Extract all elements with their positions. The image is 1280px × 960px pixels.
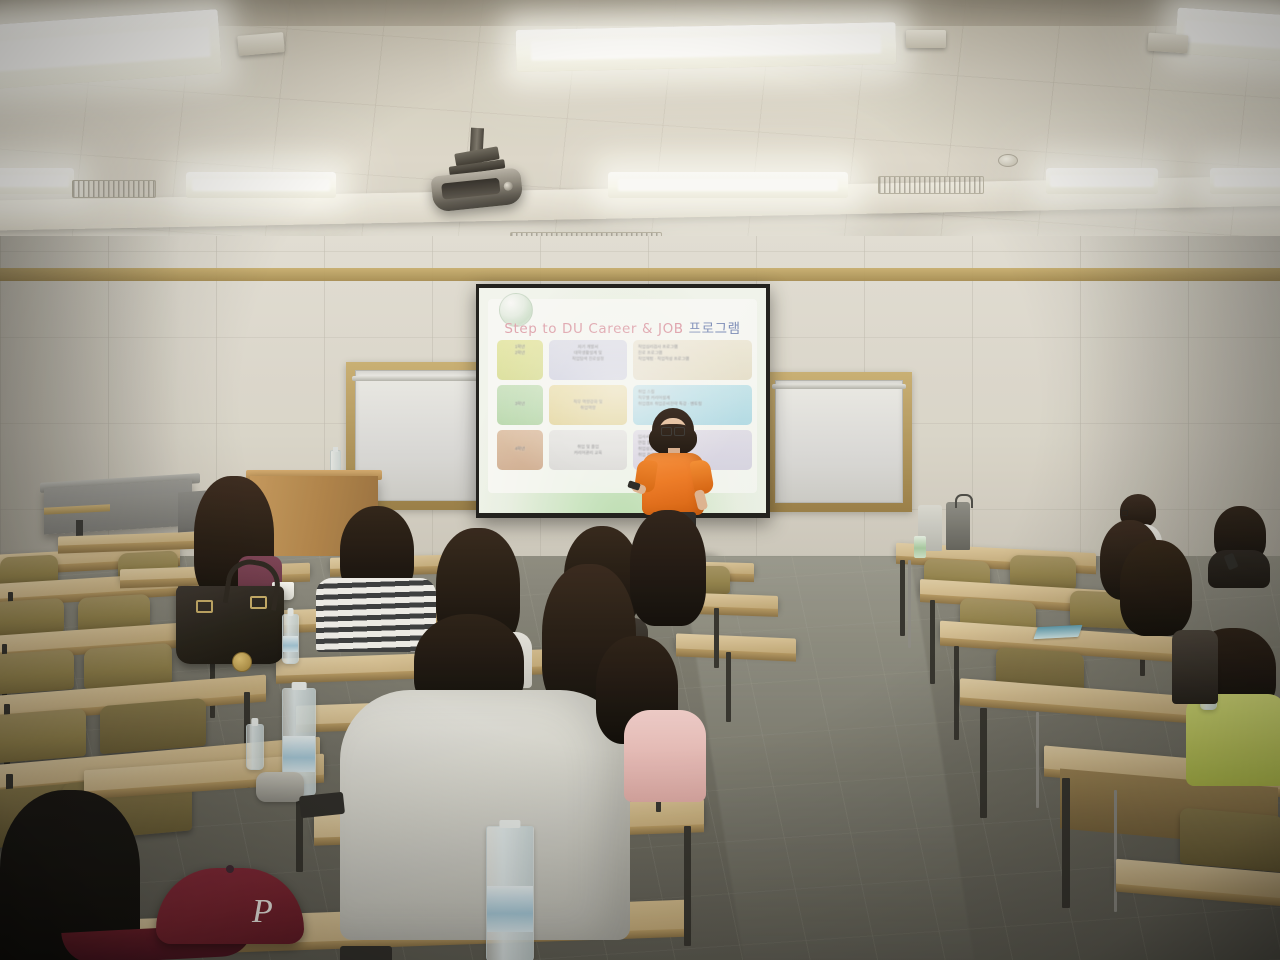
- projector-lens: [441, 178, 500, 200]
- chair: [0, 649, 74, 695]
- student-torso: [340, 690, 630, 940]
- student-torso: [1172, 630, 1218, 704]
- student: [1172, 630, 1218, 704]
- light-fixture-head: [237, 32, 285, 56]
- slide-year-label: 3학년: [497, 385, 543, 425]
- ceiling-light: [516, 22, 897, 72]
- chair: [100, 698, 206, 754]
- student-torso: [1208, 550, 1270, 588]
- air-vent: [72, 180, 156, 198]
- cap-button: [226, 865, 234, 873]
- whiteboard-surface: [775, 380, 903, 503]
- whiteboard-right: [766, 372, 912, 512]
- slide-title-korean: 프로그램: [689, 321, 741, 337]
- bag-buckle: [196, 600, 213, 613]
- desk-leg: [726, 652, 731, 722]
- water-bottle: [246, 724, 264, 770]
- desk-leg: [908, 560, 911, 648]
- desk-leg: [900, 560, 905, 636]
- foil-pouch: [256, 772, 304, 802]
- chair-leg: [1036, 712, 1039, 808]
- projection-screen: Step to DU Career & JOB 프로그램 1학년2학년 자기 개…: [476, 284, 770, 518]
- slide-middle-cell: 직무 역량강화 및취업역량: [549, 385, 627, 425]
- slide-content-cell: 직업심리검사 프로그램진로 프로그램직업체험 · 직업적성 프로그램: [633, 340, 752, 380]
- slide-row: 3학년 직무 역량강화 및취업역량 취업 스킬직무별 커리어설계취업캠프 취업준…: [497, 385, 752, 425]
- desk-leg: [714, 608, 719, 668]
- ceiling-light: [0, 168, 74, 194]
- desk-leg: [930, 600, 935, 684]
- student-torso: [624, 710, 706, 802]
- chair: [1180, 807, 1280, 872]
- bag-charm: [232, 652, 252, 672]
- bag-buckle: [250, 596, 267, 609]
- desk-leg: [1062, 778, 1070, 908]
- slide-title: Step to DU Career & JOB 프로그램: [479, 317, 766, 337]
- bag: [946, 502, 970, 550]
- slide-year-label: 4학년: [497, 430, 543, 470]
- student: [596, 636, 706, 796]
- drink-can: [914, 536, 926, 558]
- whiteboard-marker-rail: [772, 384, 906, 389]
- glasses-icon: [1121, 510, 1128, 516]
- light-fixture-head: [906, 30, 946, 48]
- glasses-icon: [661, 427, 685, 434]
- slide-title-english: Step to DU Career & JOB: [504, 321, 688, 337]
- slide-middle-cell: 자기 개발서대학생활설계 및직업탐색 진로설정: [549, 340, 627, 380]
- smoke-detector: [998, 154, 1018, 167]
- slide-row: 1학년2학년 자기 개발서대학생활설계 및직업탐색 진로설정 직업심리검사 프로…: [497, 340, 752, 380]
- cap-logo: P: [252, 894, 278, 930]
- student: [1208, 506, 1270, 584]
- water-bottle: [282, 614, 299, 664]
- lecture-hall-photo: Step to DU Career & JOB 프로그램 1학년2학년 자기 개…: [0, 0, 1280, 960]
- smartphone: [340, 946, 392, 960]
- slide-middle-cell: 취업 및 졸업커리어관리 교육: [549, 430, 627, 470]
- desk-leg: [980, 708, 987, 818]
- bag-handle: [955, 494, 973, 508]
- ceiling-light: [186, 172, 336, 198]
- slide-row: 4학년 취업 및 졸업커리어관리 교육 입사서류 작성법면접 클리닉취업성공패키…: [497, 430, 752, 470]
- chair-leg: [1114, 790, 1117, 912]
- ceiling-light: [608, 172, 848, 198]
- ceiling-light: [1046, 168, 1158, 194]
- slide-year-label: 1학년2학년: [497, 340, 543, 380]
- chair: [0, 708, 86, 764]
- presentation-slide: Step to DU Career & JOB 프로그램 1학년2학년 자기 개…: [479, 288, 766, 513]
- chair: [0, 598, 64, 636]
- notebook: [1033, 625, 1082, 639]
- student-hair: [1120, 540, 1192, 636]
- whiteboard-marker-rail: [352, 376, 486, 381]
- desk-leg: [954, 646, 959, 740]
- desk-leg: [684, 826, 691, 946]
- chair: [1010, 555, 1076, 589]
- smartphone: [299, 792, 345, 818]
- light-fixture-head: [1147, 33, 1188, 54]
- ceiling-light: [1210, 168, 1280, 194]
- air-vent: [878, 176, 984, 194]
- projector-lens-ring: [503, 181, 513, 191]
- water-bottle: [486, 826, 534, 960]
